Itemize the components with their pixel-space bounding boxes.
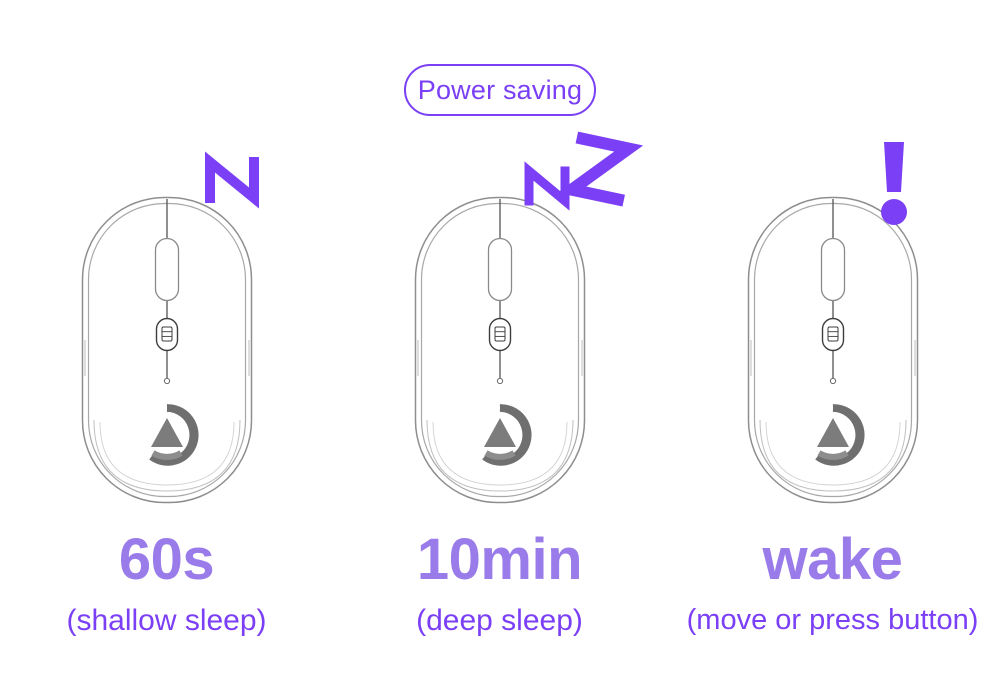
stage-shallow-sleep: 60s (shallow sleep) — [0, 0, 333, 688]
stage-subtitle: (shallow sleep) — [0, 606, 333, 636]
stage-deep-sleep: 10min (deep sleep) — [333, 0, 666, 688]
wireless-mouse-icon — [67, 190, 267, 510]
stage-title: wake — [666, 531, 999, 589]
stage-wake: wake (move or press button) — [666, 0, 999, 688]
stage-title: 60s — [0, 531, 333, 589]
stage-subtitle: (move or press button) — [666, 606, 999, 635]
wireless-mouse-icon — [400, 190, 600, 510]
wireless-mouse-icon — [733, 190, 933, 510]
stage-subtitle: (deep sleep) — [333, 606, 666, 636]
stage-title: 10min — [333, 531, 666, 589]
